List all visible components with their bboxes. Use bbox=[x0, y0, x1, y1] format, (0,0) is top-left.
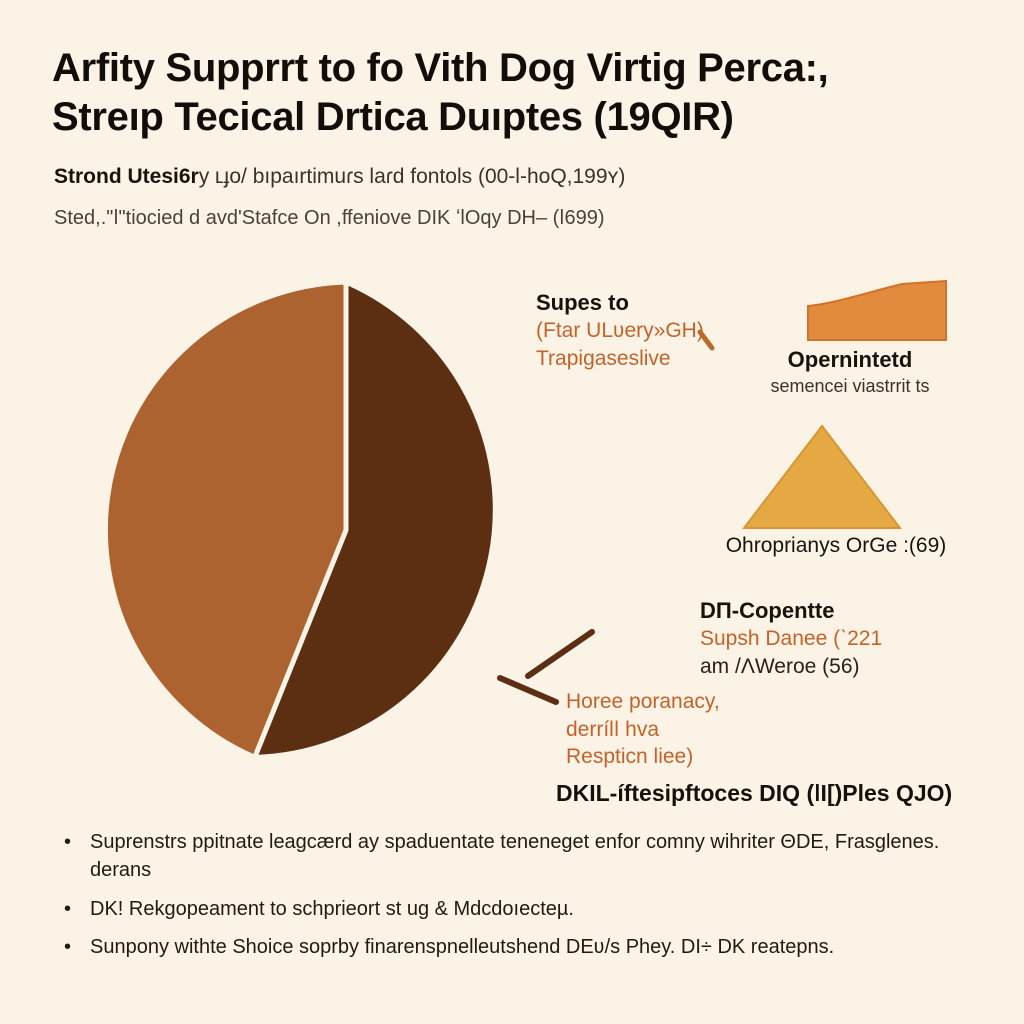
pie-chart[interactable] bbox=[86, 272, 606, 792]
bullet-marker-icon: • bbox=[64, 895, 71, 923]
subtitle-bold-lead: Strond Utesi6r bbox=[54, 165, 199, 188]
callout-legend: Opernintetd semencei viastrrit ts bbox=[700, 346, 1000, 398]
subtitle-rest: y ʟɟo/ bıpaırtimuɾs laɾd fontols (00-l-h… bbox=[199, 165, 626, 188]
callout-middle-line-2: Supsh Danee (ˋ221 bbox=[700, 625, 882, 653]
callout-legend-heading: Opernintetd bbox=[700, 346, 1000, 375]
callout-bold-footer: DKIL-íftesipftoces DIQ (ǀI[)Ples QJO) bbox=[556, 780, 952, 807]
list-item: • Suprenstrs ppitnate leagcærd ay spadue… bbox=[44, 828, 994, 885]
list-item-text: DK! Rekgopeament to schprieort st uɡ & M… bbox=[90, 898, 574, 920]
callout-top-line-2: (Ftar ULʋery»GH) bbox=[536, 317, 704, 345]
bullet-list: • Suprenstrs ppitnate leagcærd ay spadue… bbox=[44, 828, 994, 972]
callout-lower-line-3: Respticn liee) bbox=[566, 743, 720, 771]
callout-lower: Horee poranacy, derrílǀ hva Respticn lie… bbox=[566, 688, 720, 771]
callout-lower-line-1: Horee poranacy, bbox=[566, 688, 720, 716]
callout-legend-subtext: semencei viastrrit ts bbox=[700, 375, 1000, 398]
infographic-page: Arfity Supprrt to fo Vith Dog Virtig Per… bbox=[0, 0, 1024, 1024]
wedge-shape bbox=[806, 280, 948, 347]
list-item-text: Suprenstrs ppitnate leagcærd ay spaduent… bbox=[90, 831, 939, 881]
subtitle-line-1: Strond Utesi6ry ʟɟo/ bıpaırtimuɾs laɾd f… bbox=[54, 164, 954, 190]
bullet-marker-icon: • bbox=[64, 828, 71, 856]
callout-triangle-label: Ohroprianys OrGe :(69) bbox=[676, 534, 996, 558]
callout-lower-line-2: derrílǀ hva bbox=[566, 716, 720, 744]
callout-middle-heading: DΠ-Copentte bbox=[700, 596, 882, 625]
list-item: • Sunpony withte Shoice soprby finarensp… bbox=[44, 933, 994, 961]
wedge-path bbox=[808, 281, 946, 340]
page-title-line-1: Arfity Supprrt to fo Vith Dog Virtig Per… bbox=[52, 46, 829, 90]
page-title: Arfity Supprrt to fo Vith Dog Virtig Per… bbox=[52, 44, 952, 142]
triangle-path bbox=[744, 426, 900, 528]
callout-middle-line-3: am /ΛWeroe (56) bbox=[700, 653, 882, 681]
pie-chart-svg bbox=[86, 272, 606, 792]
bullet-marker-icon: • bbox=[64, 933, 71, 961]
triangle-shape bbox=[742, 424, 902, 535]
callout-top-heading: Supes to bbox=[536, 288, 704, 317]
wedge-shape-icon bbox=[806, 280, 948, 342]
callout-top: Supes to (Ftar ULʋery»GH) Trapigaseslive bbox=[536, 288, 704, 372]
list-item-text: Sunpony withte Shoice soprby finarenspne… bbox=[90, 936, 834, 958]
triangle-shape-icon bbox=[742, 424, 902, 530]
list-item: • DK! Rekgopeament to schprieort st uɡ &… bbox=[44, 895, 994, 923]
callout-top-line-3: Trapigaseslive bbox=[536, 345, 704, 373]
subtitle-line-2: Sted,."ǀ"tiocied d avd'Stafce On ,ffenio… bbox=[54, 206, 954, 231]
callout-middle: DΠ-Copentte Supsh Danee (ˋ221 am /ΛWeroe… bbox=[700, 596, 882, 680]
page-title-line-2: Streıp Tecical Drtica Duıptes (19QIR) bbox=[52, 93, 952, 142]
